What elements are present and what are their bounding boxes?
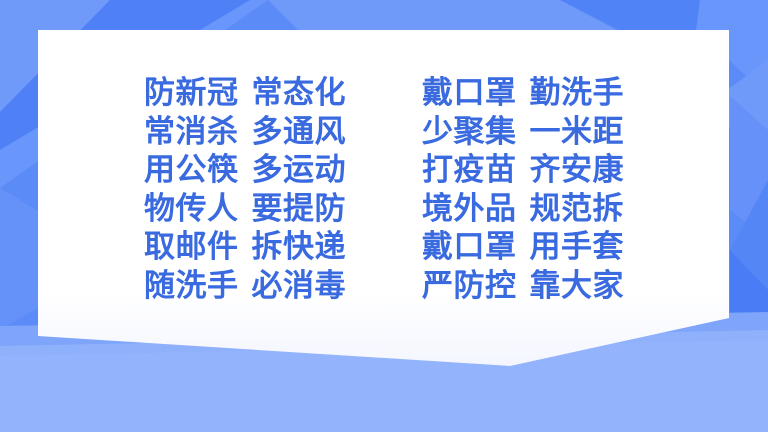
slogan-phrase-second: 必消毒 <box>252 267 347 306</box>
slogan-row: 打疫苗 齐安康 <box>422 151 624 190</box>
slogan-phrase-second: 勤洗手 <box>530 74 625 113</box>
slogan-phrase-second: 靠大家 <box>530 267 625 306</box>
slogan-row: 严防控 靠大家 <box>422 267 624 306</box>
slogan-row: 常消杀 多通风 <box>144 113 346 152</box>
slogan-row: 境外品 规范拆 <box>422 190 624 229</box>
slogan-phrase-first: 用公筷 <box>144 151 239 190</box>
slogan-phrase-first: 打疫苗 <box>422 151 517 190</box>
slogan-phrase-first: 取邮件 <box>144 228 239 267</box>
slogan-phrase-first: 防新冠 <box>144 74 239 113</box>
slogan-grid: 防新冠 常态化 常消杀 多通风 用公筷 多运动 物传人 要提防 取邮件 拆快递 … <box>38 30 730 330</box>
slogan-phrase-second: 拆快递 <box>252 228 347 267</box>
slogan-phrase-first: 少聚集 <box>422 113 517 152</box>
slogan-row: 戴口罩 勤洗手 <box>422 74 624 113</box>
slogan-phrase-first: 常消杀 <box>144 113 239 152</box>
slogan-column-left: 防新冠 常态化 常消杀 多通风 用公筷 多运动 物传人 要提防 取邮件 拆快递 … <box>144 74 346 305</box>
slogan-phrase-first: 严防控 <box>422 267 517 306</box>
slogan-row: 防新冠 常态化 <box>144 74 346 113</box>
slogan-phrase-first: 境外品 <box>422 190 517 229</box>
slogan-phrase-second: 用手套 <box>530 228 625 267</box>
slogan-phrase-second: 规范拆 <box>530 190 625 229</box>
slogan-phrase-first: 戴口罩 <box>422 74 517 113</box>
slogan-phrase-second: 要提防 <box>252 190 347 229</box>
slogan-row: 戴口罩 用手套 <box>422 228 624 267</box>
slogan-row: 随洗手 必消毒 <box>144 267 346 306</box>
slogan-phrase-second: 常态化 <box>252 74 347 113</box>
slogan-column-right: 戴口罩 勤洗手 少聚集 一米距 打疫苗 齐安康 境外品 规范拆 戴口罩 用手套 … <box>422 74 624 305</box>
slogan-row: 用公筷 多运动 <box>144 151 346 190</box>
slogan-phrase-first: 随洗手 <box>144 267 239 306</box>
slogan-phrase-second: 齐安康 <box>530 151 625 190</box>
slogan-row: 少聚集 一米距 <box>422 113 624 152</box>
poster-canvas: 防新冠 常态化 常消杀 多通风 用公筷 多运动 物传人 要提防 取邮件 拆快递 … <box>0 0 768 432</box>
slogan-phrase-first: 物传人 <box>144 190 239 229</box>
slogan-phrase-second: 多通风 <box>252 113 347 152</box>
slogan-phrase-second: 多运动 <box>252 151 347 190</box>
slogan-row: 取邮件 拆快递 <box>144 228 346 267</box>
slogan-phrase-first: 戴口罩 <box>422 228 517 267</box>
slogan-phrase-second: 一米距 <box>530 113 625 152</box>
slogan-row: 物传人 要提防 <box>144 190 346 229</box>
